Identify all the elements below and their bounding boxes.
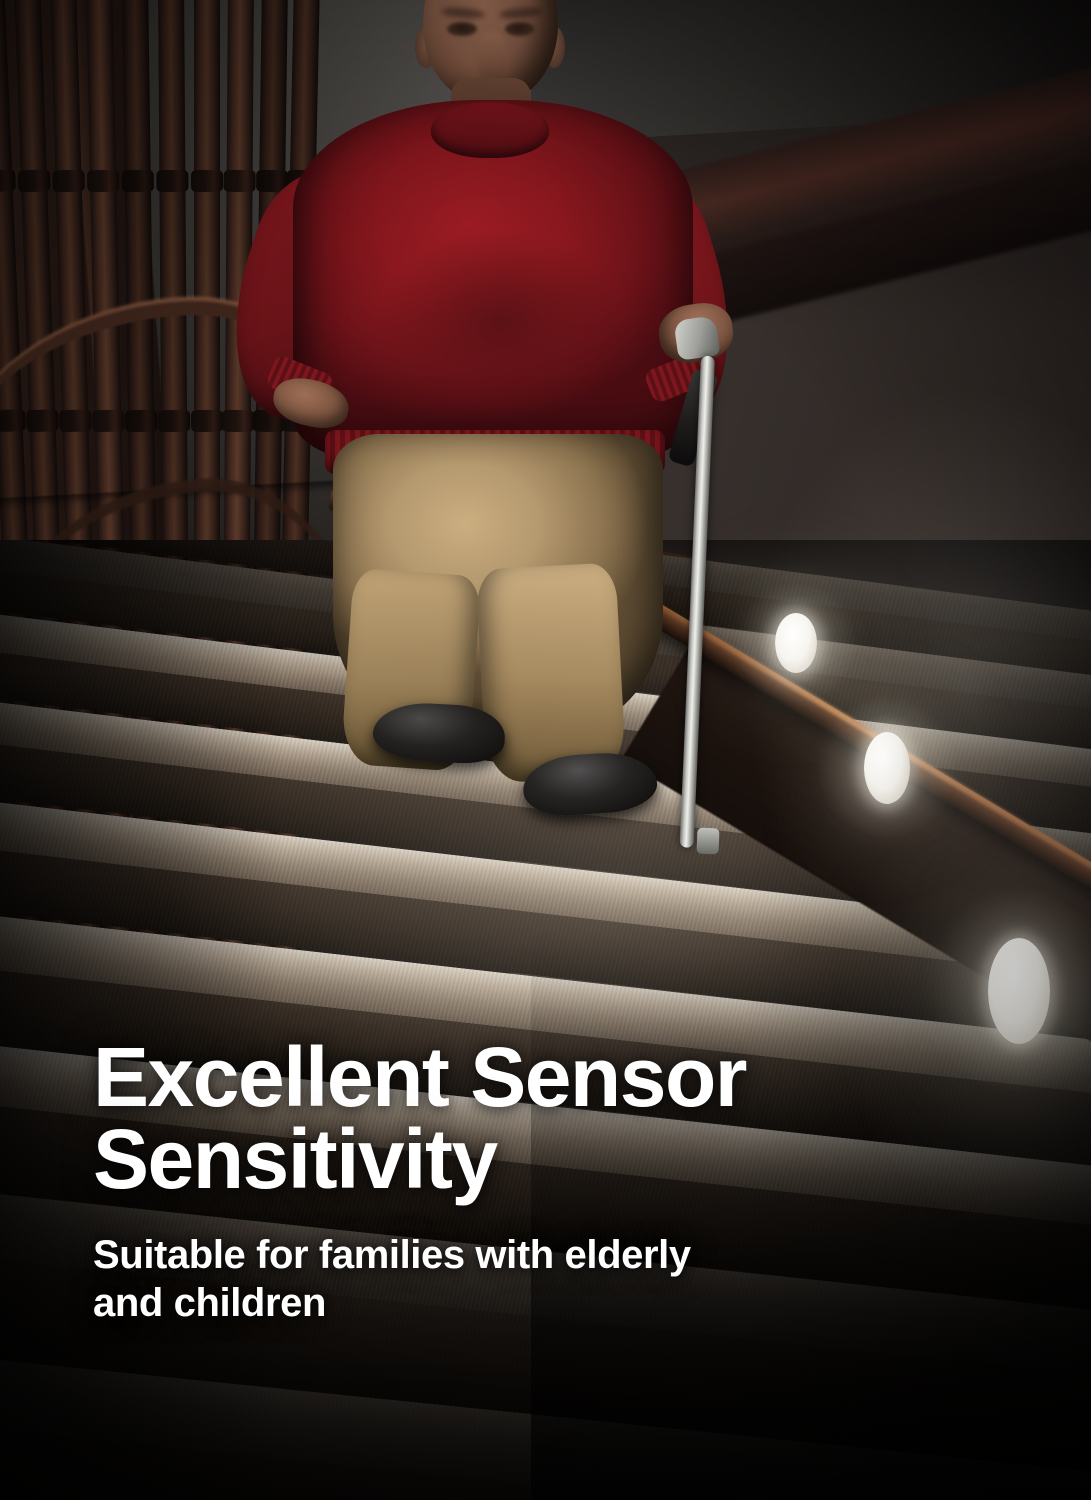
- headline-line-2: Sensitivity: [93, 1112, 497, 1206]
- cane-ferrule: [697, 828, 720, 855]
- headline-line-1: Excellent Sensor: [93, 1030, 746, 1124]
- led-puck-light-bottom: [988, 938, 1050, 1044]
- subheadline-line-1: Suitable for families with elderly: [93, 1233, 691, 1277]
- promotional-image: Excellent Sensor Sensitivity Suitable fo…: [0, 0, 1091, 1500]
- subheadline: Suitable for families with elderly and c…: [93, 1231, 833, 1327]
- headline: Excellent Sensor Sensitivity: [93, 1036, 853, 1201]
- led-puck-light-middle: [864, 732, 910, 804]
- elderly-man-figure: [255, 0, 755, 812]
- led-puck-light-top: [775, 613, 817, 673]
- left-eye: [447, 22, 477, 36]
- sweater-collar: [431, 102, 549, 158]
- cane-grip: [673, 315, 720, 360]
- subheadline-line-2: and children: [93, 1281, 326, 1325]
- right-eye: [505, 22, 535, 36]
- marketing-copy-block: Excellent Sensor Sensitivity Suitable fo…: [93, 1036, 993, 1327]
